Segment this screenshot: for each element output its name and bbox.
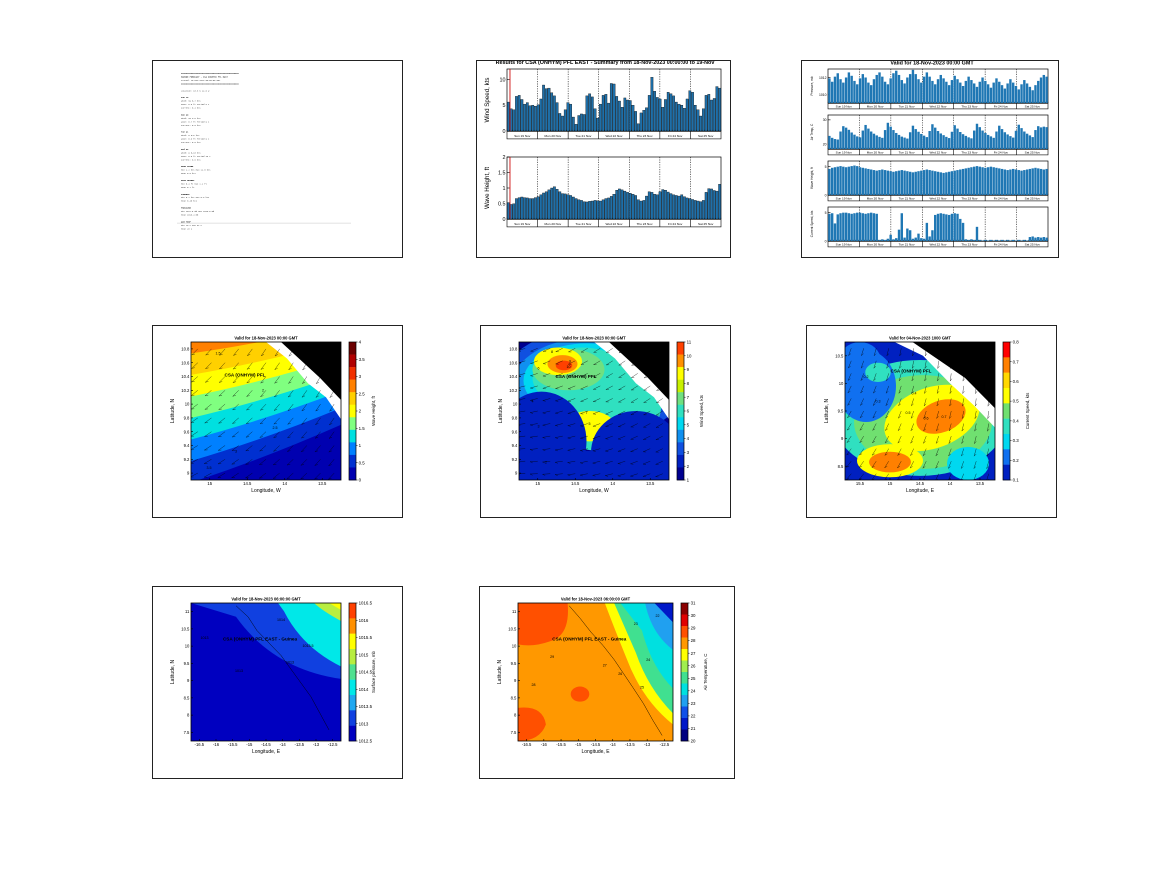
day-label: Thu 23 Nov (961, 150, 977, 154)
bar (867, 83, 869, 103)
colorbar-tick-label: 2 (359, 409, 362, 414)
bar (718, 88, 720, 131)
bar (903, 238, 905, 241)
colorbar-tick-label: 3 (359, 374, 362, 379)
bar (1034, 85, 1036, 103)
bar (1012, 240, 1014, 241)
bar (599, 201, 601, 219)
bar (867, 129, 869, 149)
bar (942, 135, 944, 149)
bar (928, 236, 930, 241)
bar (1040, 78, 1042, 104)
y-tick-label: 10.6 (181, 360, 190, 365)
x-axis-label: Longitude, W (579, 488, 609, 494)
bar (984, 168, 986, 195)
wind-speed-map-panel: Valid for 18-Nov-2023 00:00 GMT891067543… (480, 325, 731, 518)
four-series-svg: Valid for 18-Nov-2023 00:00 GMT 10101012… (802, 61, 1056, 255)
contour-label: 0.4 (912, 391, 917, 395)
bar (1001, 129, 1003, 149)
bar (979, 82, 981, 103)
colorbar-swatch (1003, 434, 1010, 450)
bar (870, 170, 872, 196)
colorbar-tick-label: 1014 (359, 687, 369, 692)
day-label: Fri 24 Nov (668, 222, 683, 226)
bar (948, 138, 950, 149)
bar (906, 171, 908, 195)
bar (529, 106, 531, 131)
bar (842, 83, 844, 103)
bar (548, 88, 550, 131)
report-line: Mean 0.45 kts (181, 200, 198, 203)
bar (605, 199, 607, 219)
wave-map-group: Valid for 18-Nov-2023 00:00 GMT1.522.533… (153, 326, 400, 515)
bar (1029, 237, 1031, 241)
bar (656, 97, 658, 131)
x-tick-label: -16 (541, 742, 548, 747)
bar (864, 214, 866, 241)
bar (640, 113, 642, 131)
map-title: Valid for 18-Nov-2023 00:00 GMT (562, 335, 626, 340)
wind-map-svg: Valid for 18-Nov-2023 00:00 GMT891067543… (481, 326, 728, 515)
colorbar-swatch (681, 695, 688, 707)
day-label: Sat 25 Nov (1025, 104, 1041, 108)
bar (526, 103, 528, 131)
colorbar-tick-label: 0.5 (359, 460, 366, 465)
colorbar-swatch (349, 355, 356, 368)
four-series-plot-group: 10101012Pressure, mbSun 19 NovMon 20 Nov… (810, 69, 1048, 247)
bar (672, 96, 674, 131)
y-tick-label: 7.5 (184, 730, 190, 735)
wave-map-svg: Valid for 18-Nov-2023 00:00 GMT1.522.533… (153, 326, 400, 515)
bar (931, 230, 933, 241)
bar (839, 132, 841, 149)
bar (515, 96, 517, 131)
y-tick-label: 1 (503, 186, 506, 192)
bar (537, 105, 539, 131)
colorbar-swatch (681, 707, 688, 719)
wind-wave-svg: Results for CSA (ONHYM) PFL EAST - Summa… (477, 61, 728, 255)
bar (834, 223, 836, 241)
bar (521, 197, 523, 219)
day-label: Wed 22 Nov (606, 222, 623, 226)
colorbar-swatch (349, 405, 356, 418)
bar (940, 75, 942, 103)
bar (856, 84, 858, 103)
bar (965, 81, 967, 103)
bar (635, 111, 637, 131)
day-label: Tue 21 Nov (899, 150, 915, 154)
y-tick-label: 10 (839, 381, 844, 386)
contour-label: 0.2 (864, 375, 869, 379)
air-temperature-map-panel: Valid for 18-Nov-2023 06:00:00 GMT292827… (479, 586, 735, 779)
bar (1029, 169, 1031, 195)
bar (507, 203, 509, 219)
wave-height-map-panel: Valid for 18-Nov-2023 00:00 GMT1.522.533… (152, 325, 403, 518)
bar (934, 84, 936, 103)
y-axis-label: Latitude, N (498, 399, 504, 424)
colorbar-swatch (677, 380, 684, 393)
bar (934, 171, 936, 195)
colorbar-tick-label: 4 (359, 340, 362, 345)
colorbar-swatch (681, 661, 688, 673)
bar (1043, 75, 1045, 103)
x-tick-label: 14 (610, 481, 615, 486)
bar (920, 134, 922, 149)
x-tick-label: 15 (207, 481, 212, 486)
bar (917, 132, 919, 149)
bar (1043, 170, 1045, 196)
colorbar-tick-label: 1013.5 (359, 704, 373, 709)
x-tick-label: -13 (313, 742, 320, 747)
bar (507, 102, 509, 131)
bar (662, 190, 664, 219)
map-field: 1.522.533.5CSA (ONHYM) PFL (153, 326, 400, 515)
bar (839, 213, 841, 241)
bar (1045, 127, 1047, 149)
day-label: Sat 25 Nov (1025, 150, 1041, 154)
bar (1004, 132, 1006, 149)
day-label: Sun 19 Nov (836, 150, 853, 154)
bar (681, 195, 683, 219)
bar (637, 124, 639, 131)
colorbar-swatch (1003, 419, 1010, 435)
bar (1040, 169, 1042, 195)
bar (1040, 238, 1042, 241)
bar (981, 78, 983, 104)
bar (526, 198, 528, 219)
bar (551, 188, 553, 219)
bar (995, 78, 997, 103)
bar (1001, 240, 1003, 241)
bar (992, 138, 994, 149)
bar (683, 197, 685, 219)
bar (889, 235, 891, 241)
colorbar-swatch (349, 695, 356, 711)
day-label: Fri 24 Nov (994, 104, 1009, 108)
bar (887, 171, 889, 195)
x-tick-label: -15 (575, 742, 582, 747)
y-tick-label: 5 (825, 211, 827, 215)
bar (934, 128, 936, 149)
y-tick-label: 10.2 (509, 388, 518, 393)
bar (659, 192, 661, 219)
y-tick-label: 10.5 (508, 626, 517, 631)
bar (987, 240, 989, 241)
bar (909, 230, 911, 241)
bar (713, 190, 715, 219)
colorbar-swatch (349, 664, 356, 680)
bar (895, 238, 897, 241)
contour-label: 24 (646, 658, 650, 662)
bar (934, 215, 936, 241)
bar (873, 213, 875, 241)
colorbar-swatch (681, 626, 688, 638)
colorbar-swatch (349, 430, 356, 443)
colorbar-tick-label: 0.5 (1013, 399, 1020, 404)
bar (876, 214, 878, 241)
y-tick-label: 9 (515, 471, 518, 476)
site-annotation: CSA (ONHYM) PFL EAST - Guinea (223, 636, 297, 641)
bar (845, 78, 847, 104)
bar (878, 72, 880, 103)
bar (624, 98, 626, 131)
x-tick-label: -13 (644, 742, 651, 747)
bar (718, 184, 720, 219)
colorbar-swatch (677, 367, 684, 380)
bar (940, 133, 942, 149)
colorbar-tick-label: 1015.5 (359, 635, 373, 640)
x-tick-label: -12.5 (328, 742, 338, 747)
y-tick-label: 9.6 (512, 429, 518, 434)
y-tick-label: 5 (503, 103, 506, 109)
colorbar-tick-label: 0.2 (1013, 458, 1020, 463)
colorbar-tick-label: 1016.5 (359, 601, 373, 606)
x-axis-label: Longitude, E (906, 488, 935, 494)
bar (898, 171, 900, 195)
colorbar-swatch (681, 730, 688, 742)
bar (831, 82, 833, 103)
bar (976, 166, 978, 195)
bar (542, 193, 544, 219)
bar (664, 99, 666, 131)
bar (670, 94, 672, 131)
day-label: Tue 21 Nov (575, 134, 591, 138)
bar (1040, 127, 1042, 149)
colorbar-tick-label: 20 (691, 739, 696, 744)
y-tick-label: 10.5 (181, 626, 190, 631)
x-tick-label: -15 (246, 742, 253, 747)
bar (906, 229, 908, 241)
bar (951, 214, 953, 241)
bar (937, 214, 939, 241)
wind-wave-plot-group: 0510Wind Speed, ktsSun 19 NovMon 20 NovT… (484, 69, 721, 227)
colorbar-tick-label: 26 (691, 663, 696, 668)
bar (917, 79, 919, 103)
bar (1001, 169, 1003, 195)
y-tick-label: 10 (512, 644, 517, 649)
bar (945, 137, 947, 149)
bar (942, 78, 944, 103)
y-tick-label: 9 (841, 436, 844, 441)
bar (967, 168, 969, 195)
bar (945, 214, 947, 241)
bar (976, 227, 978, 241)
day-label: Thu 23 Nov (637, 134, 653, 138)
report-svg: ========================================… (153, 61, 400, 255)
colorbar-swatch (681, 615, 688, 627)
colorbar-tick-label: 28 (691, 638, 696, 643)
day-label: Mon 20 Nov (867, 196, 884, 200)
bar (887, 123, 889, 149)
colorbar-swatch (1003, 357, 1010, 373)
bar (912, 126, 914, 149)
bar (979, 240, 981, 241)
bar (987, 167, 989, 195)
x-tick-label: -13.5 (625, 742, 635, 747)
bar (643, 200, 645, 219)
bar (713, 98, 715, 131)
y-tick-label: 10 (185, 402, 190, 407)
colorbar-label: Current Speed, kts (1025, 392, 1030, 429)
bar (926, 137, 928, 149)
bar (523, 104, 525, 131)
colorbar-tick-label: 0.4 (1013, 418, 1020, 423)
x-tick-label: -16.5 (195, 742, 205, 747)
bar (532, 199, 534, 219)
bar (594, 109, 596, 131)
bar (876, 75, 878, 103)
bar (1015, 131, 1017, 149)
bar (651, 192, 653, 219)
bar (837, 140, 839, 149)
x-tick-label: 14.5 (243, 481, 252, 486)
colorbar-swatch (349, 392, 356, 405)
bar (710, 100, 712, 131)
report-line: ========================================… (181, 82, 240, 85)
bar (926, 72, 928, 103)
colorbar-swatch (349, 649, 356, 665)
x-tick-label: -15.5 (556, 742, 566, 747)
bar (917, 171, 919, 195)
bar (716, 191, 718, 219)
contour-label: 9 (569, 360, 571, 364)
colorbar-label: Surface pressure, mb (371, 650, 376, 693)
colorbar-tick-label: 2 (687, 464, 690, 469)
bar (870, 213, 872, 241)
x-tick-label: -14.5 (261, 742, 271, 747)
contour-label: 6 (538, 367, 540, 371)
y-tick-label: 8 (187, 713, 190, 718)
colorbar-tick-label: 0.6 (1013, 379, 1020, 384)
bar (626, 192, 628, 219)
day-label: Mon 20 Nov (867, 242, 884, 246)
colorbar-swatch (681, 649, 688, 661)
day-label: Sun 19 Nov (836, 104, 853, 108)
colorbar-swatch (349, 603, 356, 619)
bar (613, 84, 615, 131)
bar (586, 202, 588, 219)
bar (981, 167, 983, 195)
bar (928, 131, 930, 149)
y-tick-label: 9.8 (184, 416, 190, 421)
colorbar-swatch (349, 455, 356, 468)
bar (990, 136, 992, 149)
bar (591, 97, 593, 131)
bar (1023, 240, 1025, 241)
colorbar-swatch (349, 442, 356, 455)
contour-label: 4 (532, 400, 534, 404)
bar (532, 105, 534, 131)
bar (976, 124, 978, 149)
bar (702, 200, 704, 219)
y-tick-label: 8 (514, 713, 517, 718)
bar (1045, 77, 1047, 103)
bar (678, 196, 680, 219)
bar (959, 219, 961, 241)
bar (903, 83, 905, 103)
x-tick-label: -15.5 (228, 742, 238, 747)
bar (990, 167, 992, 195)
map-field: 0.30.40.50.60.70.2CSA (ONHYM) PFL (833, 342, 1007, 481)
bar (973, 131, 975, 149)
bar (556, 103, 558, 131)
bar (864, 125, 866, 149)
colorbar-tick-label: 30 (691, 613, 696, 618)
bar (616, 190, 618, 219)
day-label: Wed 22 Nov (930, 104, 947, 108)
bar (837, 73, 839, 103)
bar (912, 172, 914, 195)
bar (632, 105, 634, 131)
bar (607, 198, 609, 219)
contour-label: 1013 (201, 636, 209, 640)
bar (1029, 135, 1031, 149)
day-label: Fri 24 Nov (994, 242, 1009, 246)
bar (901, 137, 903, 149)
bar (962, 134, 964, 149)
y-tick-label: 10 (185, 644, 190, 649)
day-label: Sun 19 Nov (836, 196, 853, 200)
y-tick-label: 9.5 (511, 661, 517, 666)
bar (850, 166, 852, 195)
bar (923, 239, 925, 241)
x-tick-label: -16.5 (522, 742, 532, 747)
contour-label: 0.6 (924, 416, 929, 420)
y-tick-label: 9.5 (838, 409, 844, 414)
bar (653, 194, 655, 219)
bar (1012, 169, 1014, 195)
bar (537, 197, 539, 219)
bar (626, 100, 628, 131)
bar (923, 77, 925, 103)
bar (1037, 81, 1039, 103)
bar (1043, 127, 1045, 149)
bar (1023, 170, 1025, 195)
y-tick-label: 9.2 (184, 457, 190, 462)
y-axis-label: Latitude, N (170, 399, 176, 424)
bar (513, 110, 515, 131)
bar (572, 197, 574, 219)
x-tick-label: 13.5 (646, 481, 655, 486)
current-map-group: Valid for 04-Nov-2023 1000 GMT0.30.40.50… (824, 335, 1030, 494)
colorbar-swatch (681, 684, 688, 696)
bar (545, 89, 547, 131)
bar (856, 166, 858, 195)
colorbar-swatch (677, 342, 684, 355)
bar (867, 213, 869, 241)
y-tick-label: 9 (187, 471, 190, 476)
bar (881, 77, 883, 103)
colorbar-tick-label: 1.5 (359, 426, 366, 431)
colorbar-tick-label: 8 (687, 381, 690, 386)
bar (959, 83, 961, 103)
bar (862, 74, 864, 103)
x-tick-label: -14 (280, 742, 287, 747)
bar (837, 167, 839, 195)
bar (984, 240, 986, 241)
bar (640, 201, 642, 219)
bar (970, 80, 972, 103)
subplot-ylabel: Pressure, mb (810, 76, 814, 95)
bar (864, 168, 866, 195)
x-tick-label: -13.5 (295, 742, 305, 747)
bar (850, 214, 852, 241)
colorbar-swatch (349, 680, 356, 696)
colorbar-swatch (349, 367, 356, 380)
colorbar-swatch (681, 718, 688, 730)
y-axis-label: Latitude, N (170, 660, 176, 685)
colorbar-tick-label: 9 (687, 367, 690, 372)
